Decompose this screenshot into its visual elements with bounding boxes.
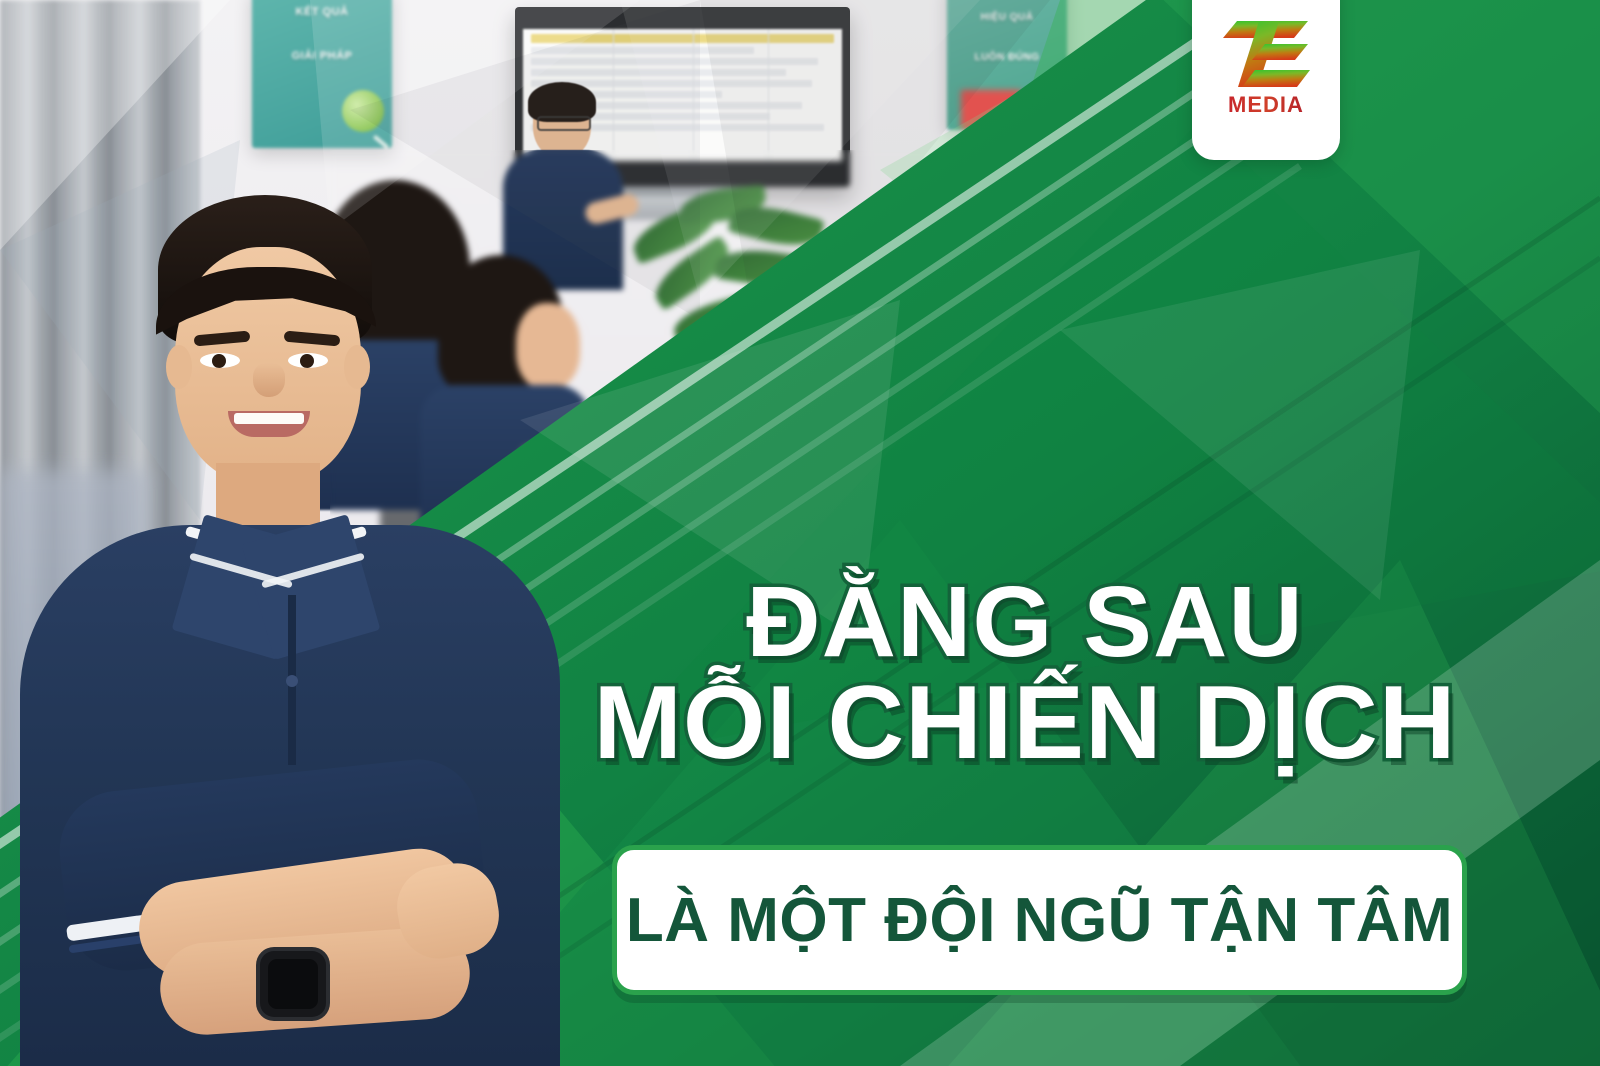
brand-logo-badge[interactable]: MEDIA: [1192, 0, 1340, 160]
te-monogram-icon: [1220, 18, 1312, 90]
poster-left-line1: KẾT QUẢ: [252, 6, 392, 18]
foreground-portrait: [10, 175, 570, 1066]
tagline-box: LÀ MỘT ĐỘI NGŨ TẬN TÂM: [612, 845, 1467, 995]
headline-line-2: MỖI CHIẾN DỊCH: [566, 675, 1484, 773]
portrait-button: [286, 675, 298, 687]
poster-right-accent: [961, 90, 1021, 130]
logo-wordmark: MEDIA: [1192, 92, 1340, 118]
banner-canvas: KẾT QUẢ GIẢI PHÁP HIỆU QUẢ LUÔN ĐÚNG: [0, 0, 1600, 1066]
wall-poster-right: HIỆU QUẢ LUÔN ĐÚNG: [947, 0, 1067, 130]
portrait-nose: [253, 363, 285, 397]
portrait-ear-right: [344, 345, 370, 389]
tagline-text: LÀ MỘT ĐỘI NGŨ TẬN TÂM: [626, 885, 1453, 956]
poster-left-line2: GIẢI PHÁP: [252, 50, 392, 62]
portrait-mouth: [228, 411, 310, 437]
seated-person-7: [1245, 235, 1425, 525]
poster-right-line2: LUÔN ĐÚNG: [947, 52, 1067, 63]
portrait-ear-left: [166, 345, 192, 389]
poster-right-line1: HIỆU QUẢ: [947, 12, 1067, 23]
globe-icon: [342, 90, 384, 132]
wall-poster-left: KẾT QUẢ GIẢI PHÁP: [252, 0, 392, 148]
headline-line-1: ĐẰNG SAU: [562, 575, 1489, 669]
magnifier-icon: [373, 135, 389, 148]
portrait-smartwatch: [260, 951, 326, 1017]
headline-block: ĐẰNG SAU MỖI CHIẾN DỊCH: [575, 575, 1475, 773]
portrait-eye-left: [200, 353, 240, 368]
portrait-eye-right: [288, 353, 328, 368]
